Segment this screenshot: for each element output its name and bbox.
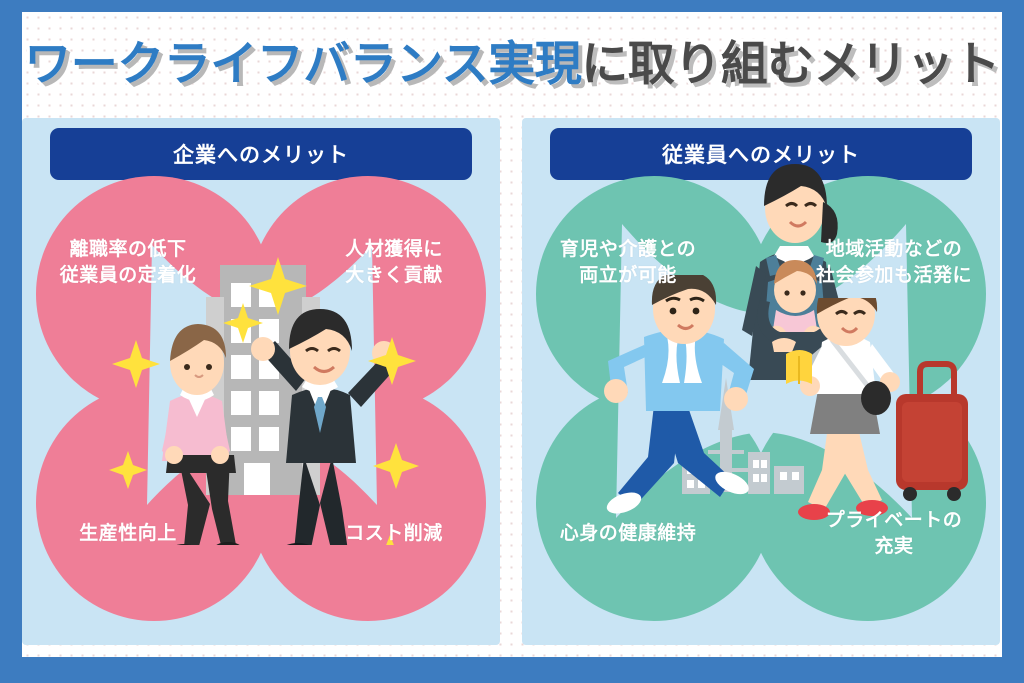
circle-employee-top-left-label: 育児や介護との両立が可能: [560, 236, 696, 288]
infographic-canvas: ワークライフバランス実現に取り組むメリット 企業へのメリット 離職率の低下従業員…: [0, 0, 1024, 683]
panel-gap: [500, 118, 522, 645]
circle-company-top-left[interactable]: 離職率の低下従業員の定着化: [36, 176, 272, 412]
title-highlight: ワークライフバランス実現: [24, 41, 581, 88]
circle-employee-top-right[interactable]: 地域活動などの社会参加も活発に: [750, 176, 986, 412]
circle-employee-top-right-label: 地域活動などの社会参加も活発に: [816, 236, 972, 288]
title-rest: に取り組むメリット: [581, 41, 1000, 88]
panel-company: 企業へのメリット 離職率の低下従業員の定着化 人材獲得に大きく貢献 生産性向上 …: [22, 118, 500, 645]
circle-company-bottom-left[interactable]: 生産性向上: [36, 385, 272, 621]
page-title: ワークライフバランス実現に取り組むメリット: [22, 33, 1002, 95]
panel-employee-header: 従業員へのメリット: [550, 128, 972, 180]
circle-employee-bottom-right-label: プライベートの充実: [826, 507, 963, 559]
circle-company-bottom-right[interactable]: コスト削減: [250, 385, 486, 621]
circle-employee-top-left[interactable]: 育児や介護との両立が可能: [536, 176, 772, 412]
circle-employee-bottom-right[interactable]: プライベートの充実: [750, 385, 986, 621]
circle-company-bottom-right-label: コスト削減: [345, 520, 443, 546]
company-circle-cluster: 離職率の低下従業員の定着化 人材獲得に大きく貢献 生産性向上 コスト削減: [22, 180, 500, 645]
employee-circle-cluster: 育児や介護との両立が可能 地域活動などの社会参加も活発に 心身の健康維持 プライ…: [522, 180, 1000, 645]
panel-employee: 従業員へのメリット 育児や介護との両立が可能 地域活動などの社会参加も活発に 心…: [522, 118, 1000, 645]
circle-company-top-right-label: 人材獲得に大きく貢献: [345, 236, 443, 288]
circle-company-top-left-label: 離職率の低下従業員の定着化: [60, 236, 197, 288]
panel-company-header: 企業へのメリット: [50, 128, 472, 180]
circle-employee-bottom-left[interactable]: 心身の健康維持: [536, 385, 772, 621]
circle-company-top-right[interactable]: 人材獲得に大きく貢献: [250, 176, 486, 412]
circle-company-bottom-left-label: 生産性向上: [79, 520, 177, 546]
circle-employee-bottom-left-label: 心身の健康維持: [560, 520, 697, 546]
